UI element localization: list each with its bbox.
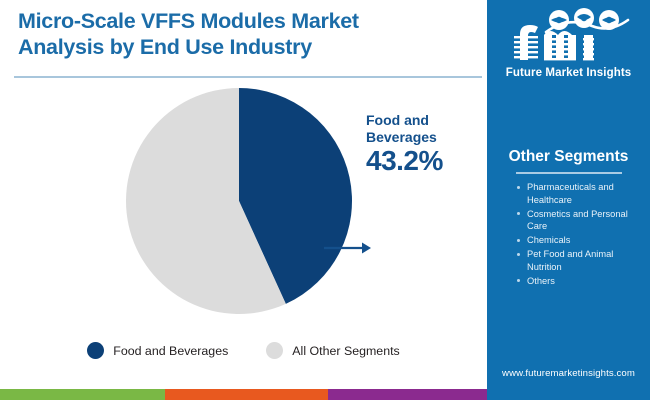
pie-chart xyxy=(124,86,354,316)
legend-swatch-icon xyxy=(266,342,283,359)
footer-bar-segment xyxy=(165,389,328,400)
footer-color-bar xyxy=(0,389,650,400)
footer-bar-segment xyxy=(328,389,487,400)
header-divider xyxy=(14,76,482,78)
brand-sidebar-panel: Future Market Insights Other Segments Ph… xyxy=(487,0,650,400)
other-segments-list: Pharmaceuticals and Healthcare Cosmetics… xyxy=(487,181,650,288)
infographic-canvas: Micro-Scale VFFS Modules Market Analysis… xyxy=(0,0,650,400)
legend-swatch-icon xyxy=(87,342,104,359)
list-item: Others xyxy=(517,275,640,288)
page-title-line-2: Analysis by End Use Industry xyxy=(18,34,468,60)
list-item: Cosmetics and Personal Care xyxy=(517,208,640,234)
list-item: Pet Food and Animal Nutrition xyxy=(517,248,640,274)
other-segments-divider xyxy=(516,172,622,174)
page-title-line-1: Micro-Scale VFFS Modules Market xyxy=(18,8,468,34)
callout-arrow-icon xyxy=(324,240,372,256)
legend-label: Food and Beverages xyxy=(113,344,228,358)
legend-item-food-and-beverages[interactable]: Food and Beverages xyxy=(87,342,228,359)
legend-label: All Other Segments xyxy=(292,344,399,358)
footer-bar-segment xyxy=(0,389,165,400)
fmi-logo-tagline: Future Market Insights xyxy=(487,67,650,79)
page-title: Micro-Scale VFFS Modules Market Analysis… xyxy=(18,8,468,60)
callout-label-line-1: Food and xyxy=(366,112,484,129)
callout-label-line-2: Beverages xyxy=(366,129,484,146)
legend-item-all-other-segments[interactable]: All Other Segments xyxy=(266,342,399,359)
callout-food-and-beverages: Food and Beverages 43.2% xyxy=(366,112,484,175)
other-segments-heading: Other Segments xyxy=(487,148,650,166)
website-url[interactable]: www.futuremarketinsights.com xyxy=(487,368,650,379)
list-item: Pharmaceuticals and Healthcare xyxy=(517,181,640,207)
fmi-logo-icon xyxy=(504,8,634,66)
fmi-logo[interactable]: Future Market Insights xyxy=(487,8,650,79)
chart-legend: Food and Beverages All Other Segments xyxy=(0,342,487,359)
other-segments-box: Other Segments Pharmaceuticals and Healt… xyxy=(487,148,650,289)
pie-chart-area: Food and Beverages 43.2% xyxy=(0,86,487,336)
list-item: Chemicals xyxy=(517,234,640,247)
callout-value: 43.2% xyxy=(366,147,484,175)
footer-bar-segment xyxy=(487,389,650,400)
